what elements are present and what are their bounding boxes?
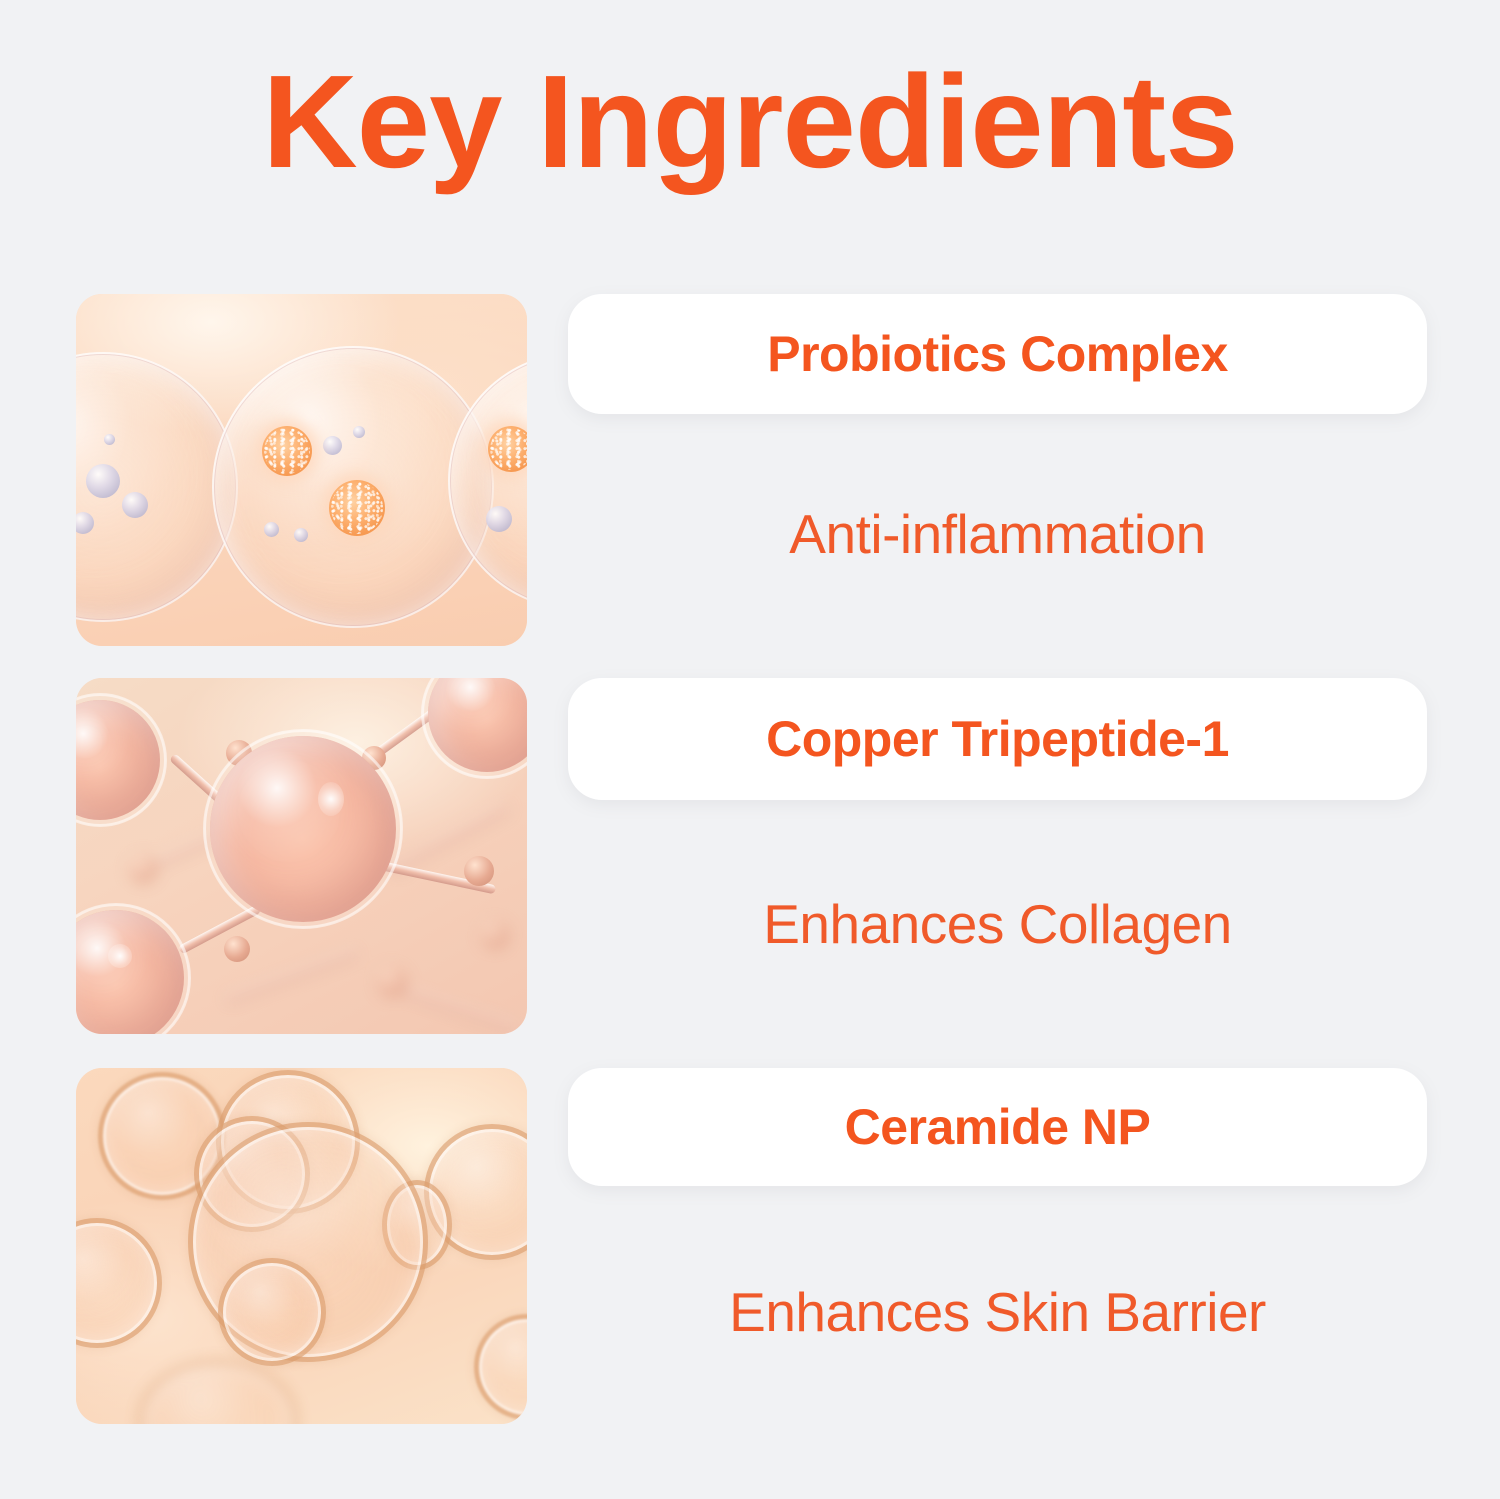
ceramide-bubble-rings-image: [76, 1068, 527, 1424]
ingredient-row: Copper Tripeptide-1 Enhances Collagen: [0, 678, 1500, 1034]
sphere-highlight: [318, 782, 344, 816]
molecule-sphere: [76, 700, 160, 820]
microsphere-shape: [104, 434, 115, 445]
microsphere-shape: [86, 464, 120, 498]
bond-node: [224, 936, 250, 962]
ingredient-row: Probiotics Complex Anti-inflammation: [0, 294, 1500, 646]
ingredient-benefit: Anti-inflammation: [568, 502, 1427, 566]
ingredient-name: Ceramide NP: [845, 1098, 1151, 1156]
ingredient-row: Ceramide NP Enhances Skin Barrier: [0, 1068, 1500, 1424]
ingredient-name-card: Copper Tripeptide-1: [568, 678, 1427, 800]
ingredient-benefit: Enhances Collagen: [568, 892, 1427, 956]
ingredient-name: Probiotics Complex: [767, 325, 1228, 383]
microsphere-shape: [264, 522, 279, 537]
microsphere-shape: [323, 436, 342, 455]
sphere-highlight: [108, 944, 132, 968]
bubble-ring: [218, 1258, 326, 1366]
copper-peptide-molecule-image: [76, 678, 527, 1034]
ingredient-name: Copper Tripeptide-1: [766, 710, 1229, 768]
key-ingredients-infographic: Key Ingredients: [0, 0, 1500, 1499]
molecule-sphere: [76, 910, 184, 1034]
ingredient-benefit: Enhances Skin Barrier: [568, 1280, 1427, 1344]
ingredient-name-card: Probiotics Complex: [568, 294, 1427, 414]
microsphere-shape: [353, 426, 365, 438]
probiotic-granule-shape: [329, 480, 385, 536]
bond-node: [464, 856, 494, 886]
microsphere-shape: [122, 492, 148, 518]
molecule-sphere: [428, 678, 527, 772]
molecule-sphere-main: [210, 736, 396, 922]
page-title: Key Ingredients: [0, 56, 1500, 188]
probiotic-granule-shape: [262, 426, 312, 476]
microsphere-shape: [486, 506, 512, 532]
microsphere-shape: [294, 528, 308, 542]
ingredient-name-card: Ceramide NP: [568, 1068, 1427, 1186]
probiotic-granule-shape: [488, 426, 527, 472]
probiotics-bubbles-image: [76, 294, 527, 646]
